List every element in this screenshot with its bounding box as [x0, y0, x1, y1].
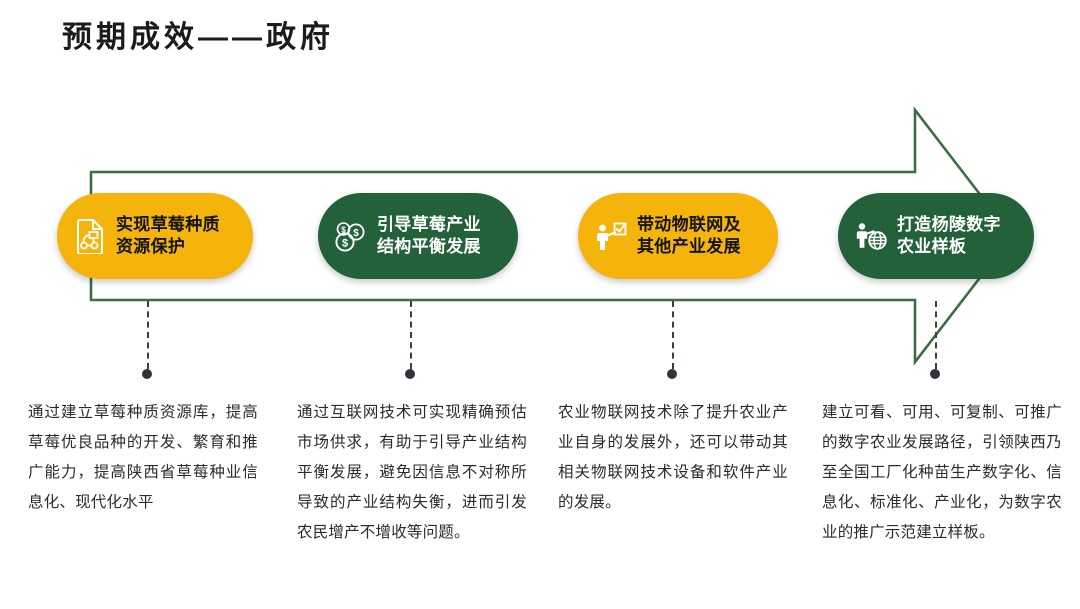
step-caption-2: 通过互联网技术可实现精确预估市场供求，有助于引导产业结构平衡发展，避免因信息不对…	[297, 398, 527, 548]
step-pill-4[interactable]: 打造杨陵数字 农业样板	[838, 193, 1034, 279]
connector-dot-1	[142, 369, 152, 379]
connector-line-2	[410, 301, 412, 369]
step-caption-4: 建立可看、可用、可复制、可推广的数字农业发展路径，引领陕西乃至全国工厂化种苗生产…	[822, 398, 1062, 548]
step-label-3: 带动物联网及 其他产业发展	[637, 214, 741, 258]
document-network-icon	[73, 217, 107, 255]
connector-dot-2	[405, 369, 415, 379]
connector-line-4	[935, 301, 937, 369]
svg-text:$: $	[342, 238, 348, 250]
person-globe-icon	[854, 217, 888, 255]
svg-text:$: $	[353, 228, 359, 239]
step-caption-3: 农业物联网技术除了提升农业产业自身的发展外，还可以带动其相关物联网技术设备和软件…	[558, 398, 788, 518]
slide-canvas: 预期成效——政府 实现草莓种质 资源保护 通过建立草莓种质资源库，提高草莓优良品…	[0, 0, 1080, 609]
step-label-2: 引导草莓产业 结构平衡发展	[377, 214, 481, 258]
step-pill-1[interactable]: 实现草莓种质 资源保护	[57, 193, 253, 279]
coins-icon: $ $ $	[334, 217, 368, 255]
page-title: 预期成效——政府	[62, 19, 334, 57]
step-pill-3[interactable]: 带动物联网及 其他产业发展	[578, 193, 778, 279]
connector-dot-3	[667, 369, 677, 379]
connector-line-1	[147, 301, 149, 369]
person-checklist-icon	[594, 217, 628, 255]
connector-dot-4	[930, 369, 940, 379]
step-label-1: 实现草莓种质 资源保护	[116, 214, 220, 258]
step-label-4: 打造杨陵数字 农业样板	[897, 214, 1001, 258]
step-pill-2[interactable]: $ $ $ 引导草莓产业 结构平衡发展	[318, 193, 518, 279]
connector-line-3	[672, 301, 674, 369]
step-caption-1: 通过建立草莓种质资源库，提高草莓优良品种的开发、繁育和推广能力，提高陕西省草莓种…	[28, 398, 258, 518]
